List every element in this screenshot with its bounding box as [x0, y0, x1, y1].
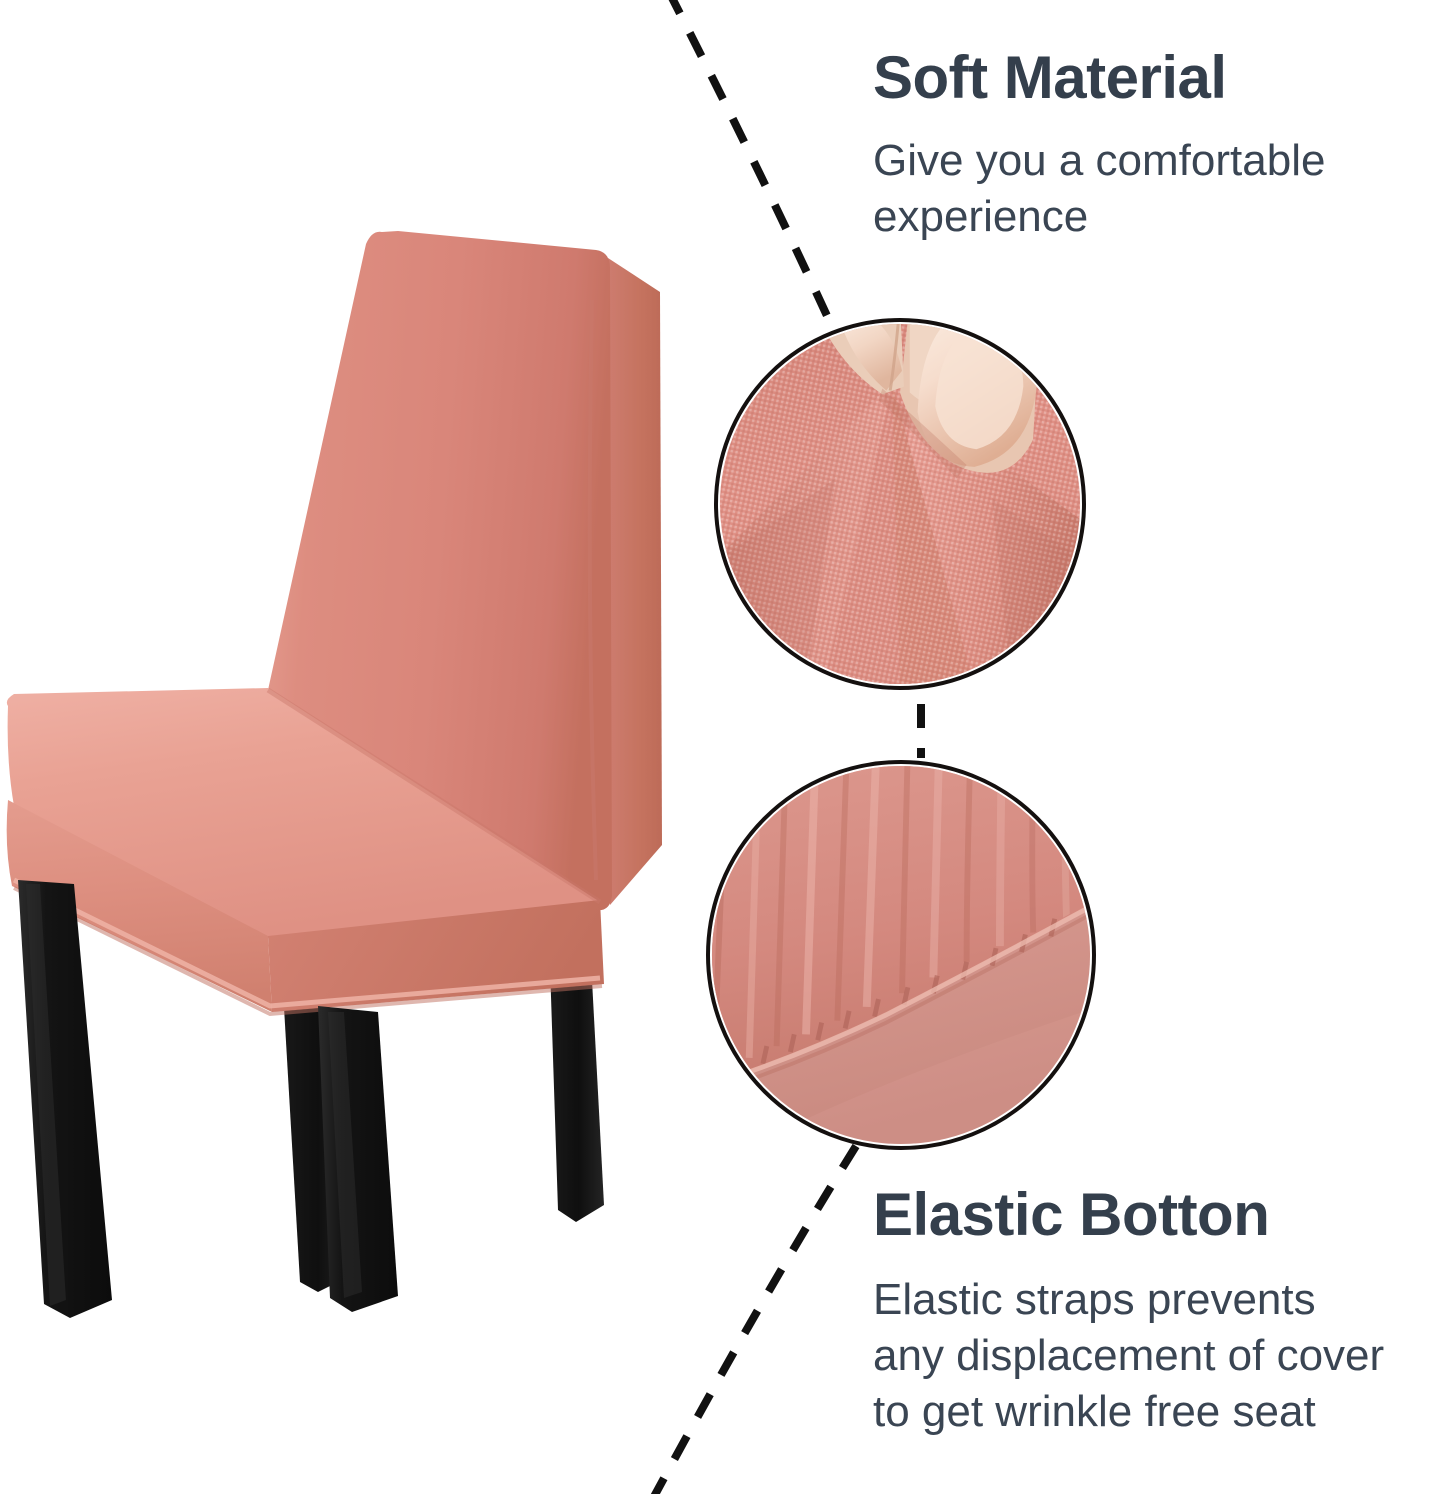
- infographic-canvas: Soft Material Give you a comfortable exp…: [0, 0, 1445, 1494]
- feature-block-soft-material: Soft Material Give you a comfortable exp…: [873, 46, 1393, 245]
- chair-back-side-panel: [608, 258, 662, 905]
- chair-leg-front-left: [18, 880, 112, 1318]
- detail-circle-elastic-bottom: [706, 760, 1096, 1150]
- chair-illustration: [0, 0, 700, 1330]
- feature-description-elastic-bottom: Elastic straps prevents any displacement…: [873, 1272, 1393, 1441]
- feature-block-elastic-bottom: Elastic Botton Elastic straps prevents a…: [873, 1183, 1413, 1441]
- feature-title-soft-material: Soft Material: [873, 46, 1393, 111]
- feature-title-elastic-bottom: Elastic Botton: [873, 1183, 1413, 1248]
- feature-description-soft-material: Give you a comfortable experience: [873, 133, 1373, 246]
- chair-leg-front-right: [318, 1006, 398, 1312]
- detail-circle-soft-material: [714, 318, 1086, 690]
